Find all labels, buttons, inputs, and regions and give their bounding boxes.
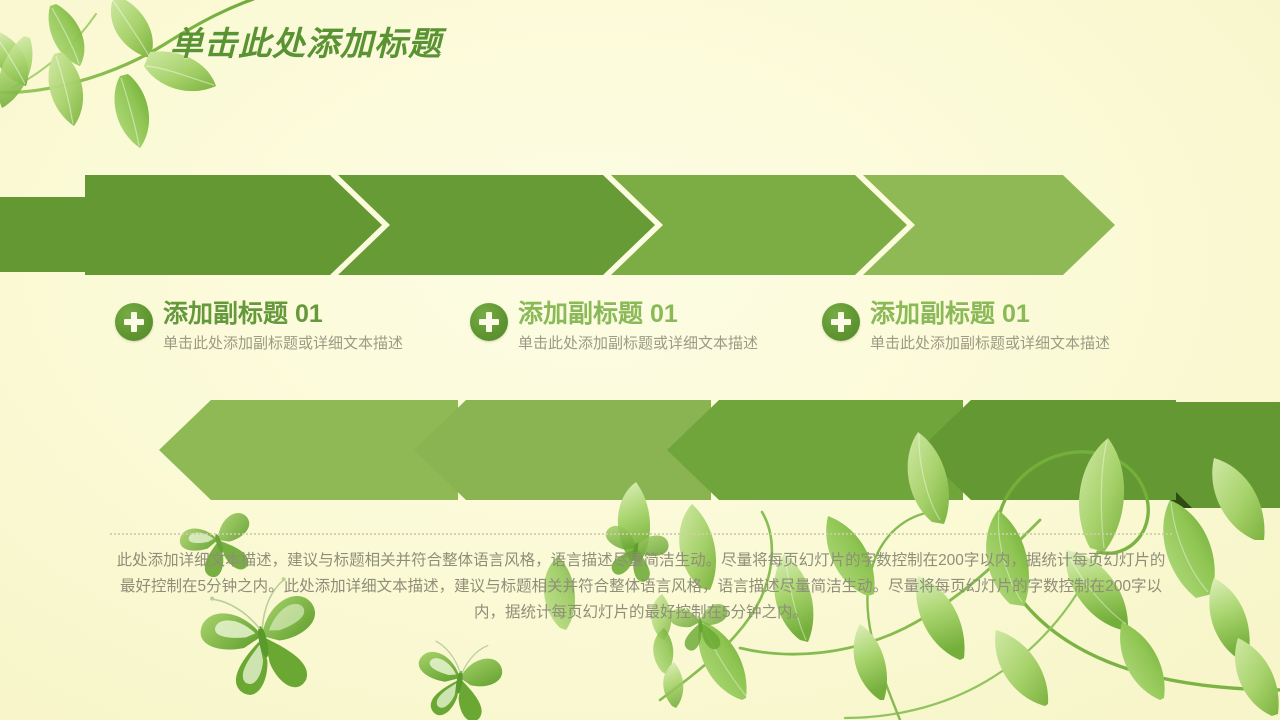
butterfly-icon-2 [412,636,506,720]
plus-icon [822,303,860,341]
subtitle-description: 单击此处添加副标题或详细文本描述 [518,333,758,355]
upper-band-segment-1 [85,175,382,275]
page-title: 单击此处添加标题 [170,22,442,66]
lower-band-segment-4 [919,400,1176,500]
lower-band-segment-2 [414,400,711,500]
lower-arrow-band [158,396,1280,516]
dotted-divider [110,533,1172,535]
subtitle-item-2[interactable]: 添加副标题 01 单击此处添加副标题或详细文本描述 [470,298,850,370]
upper-band-segment-2 [338,175,655,275]
subtitle-description: 单击此处添加副标题或详细文本描述 [163,333,403,355]
subtitle-heading: 添加副标题 01 [518,298,678,331]
plus-icon [470,303,508,341]
body-paragraph: 此处添加详细文本描述，建议与标题相关并符合整体语言风格，语言描述尽量简洁生动。尽… [110,548,1172,626]
subtitle-heading: 添加副标题 01 [163,298,323,331]
upper-arrow-band [0,175,1130,285]
lower-band-segment-3 [667,400,963,500]
subtitle-item-1[interactable]: 添加副标题 01 单击此处添加副标题或详细文本描述 [115,298,495,370]
subtitle-item-3[interactable]: 添加副标题 01 单击此处添加副标题或详细文本描述 [822,298,1202,370]
lower-band-segment-1 [159,400,458,500]
subtitle-heading: 添加副标题 01 [870,298,1030,331]
lower-band-tail [1170,402,1280,508]
slide-canvas: 单击此处添加标题 添加副标题 01 单击此处添加副标题或详细文本描述 添加副标 [0,0,1280,720]
subtitle-row: 添加副标题 01 单击此处添加副标题或详细文本描述 添加副标题 01 单击此处添… [0,298,1280,370]
plus-icon [115,303,153,341]
upper-band-segment-3 [611,175,907,275]
subtitle-description: 单击此处添加副标题或详细文本描述 [870,333,1110,355]
